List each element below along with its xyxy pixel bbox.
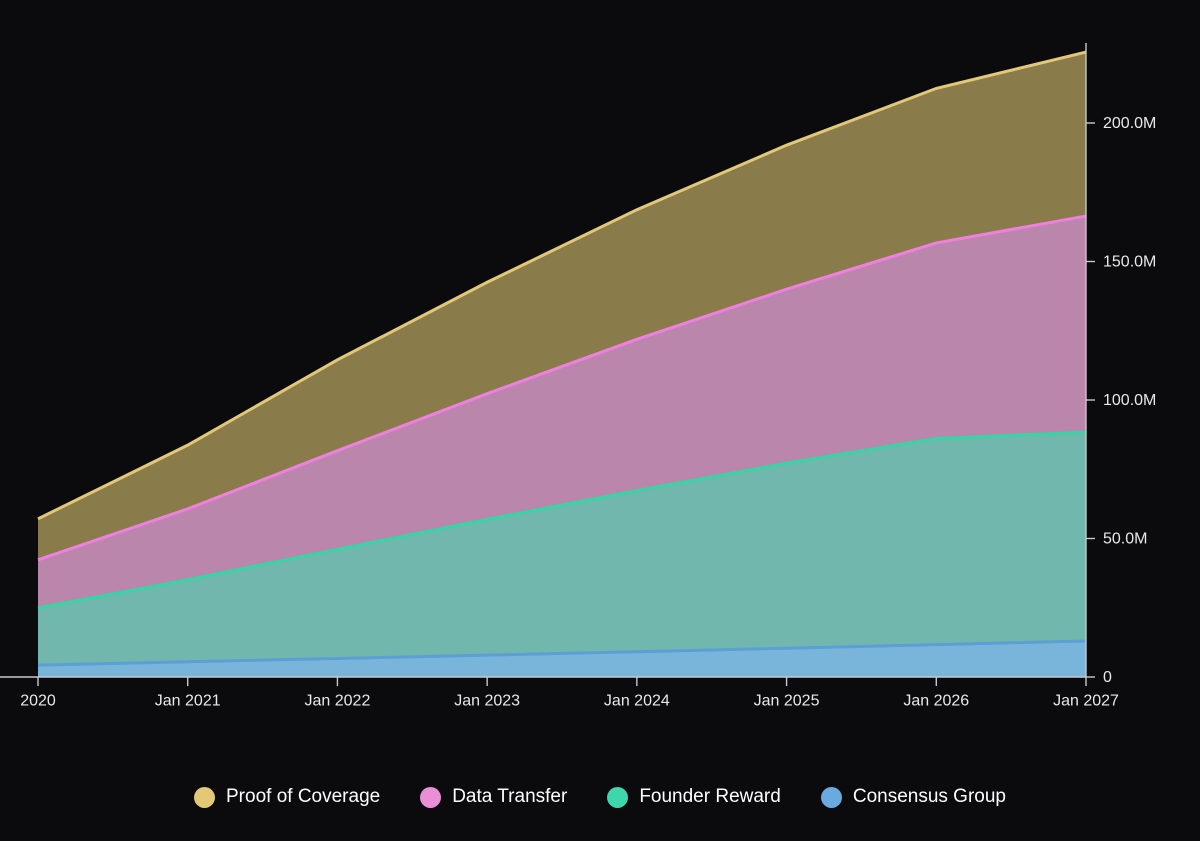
legend-item[interactable]: Data Transfer	[420, 786, 567, 808]
legend-swatch-icon	[607, 787, 628, 808]
x-tick-label: 2020	[20, 692, 56, 709]
legend-item[interactable]: Founder Reward	[607, 786, 781, 808]
y-tick-label: 100.0M	[1103, 392, 1156, 409]
y-tick-label: 0	[1103, 669, 1112, 686]
legend-label: Consensus Group	[853, 786, 1006, 808]
y-tick-label: 200.0M	[1103, 115, 1156, 132]
chart-page: 050.0M100.0M150.0M200.0M 2020Jan 2021Jan…	[0, 0, 1200, 841]
x-axis: 2020Jan 2021Jan 2022Jan 2023Jan 2024Jan …	[0, 677, 1119, 709]
x-tick-label: Jan 2025	[754, 692, 820, 709]
y-tick-label: 50.0M	[1103, 531, 1147, 548]
x-tick-label: Jan 2026	[903, 692, 969, 709]
x-tick-label: Jan 2027	[1053, 692, 1119, 709]
y-axis: 050.0M100.0M150.0M200.0M	[1086, 43, 1156, 686]
legend-item[interactable]: Proof of Coverage	[194, 786, 380, 808]
chart-svg: 050.0M100.0M150.0M200.0M 2020Jan 2021Jan…	[0, 0, 1200, 760]
legend-swatch-icon	[821, 787, 842, 808]
legend-label: Data Transfer	[452, 786, 567, 808]
area-series-group	[38, 52, 1086, 677]
x-tick-label: Jan 2021	[155, 692, 221, 709]
x-tick-label: Jan 2022	[305, 692, 371, 709]
legend-label: Proof of Coverage	[226, 786, 380, 808]
y-tick-label: 150.0M	[1103, 254, 1156, 271]
legend-swatch-icon	[420, 787, 441, 808]
x-tick-label: Jan 2023	[454, 692, 520, 709]
stacked-area-chart: 050.0M100.0M150.0M200.0M 2020Jan 2021Jan…	[0, 0, 1200, 760]
legend-swatch-icon	[194, 787, 215, 808]
legend-label: Founder Reward	[639, 786, 781, 808]
legend-item[interactable]: Consensus Group	[821, 786, 1006, 808]
chart-legend: Proof of CoverageData TransferFounder Re…	[0, 762, 1200, 832]
x-tick-label: Jan 2024	[604, 692, 670, 709]
